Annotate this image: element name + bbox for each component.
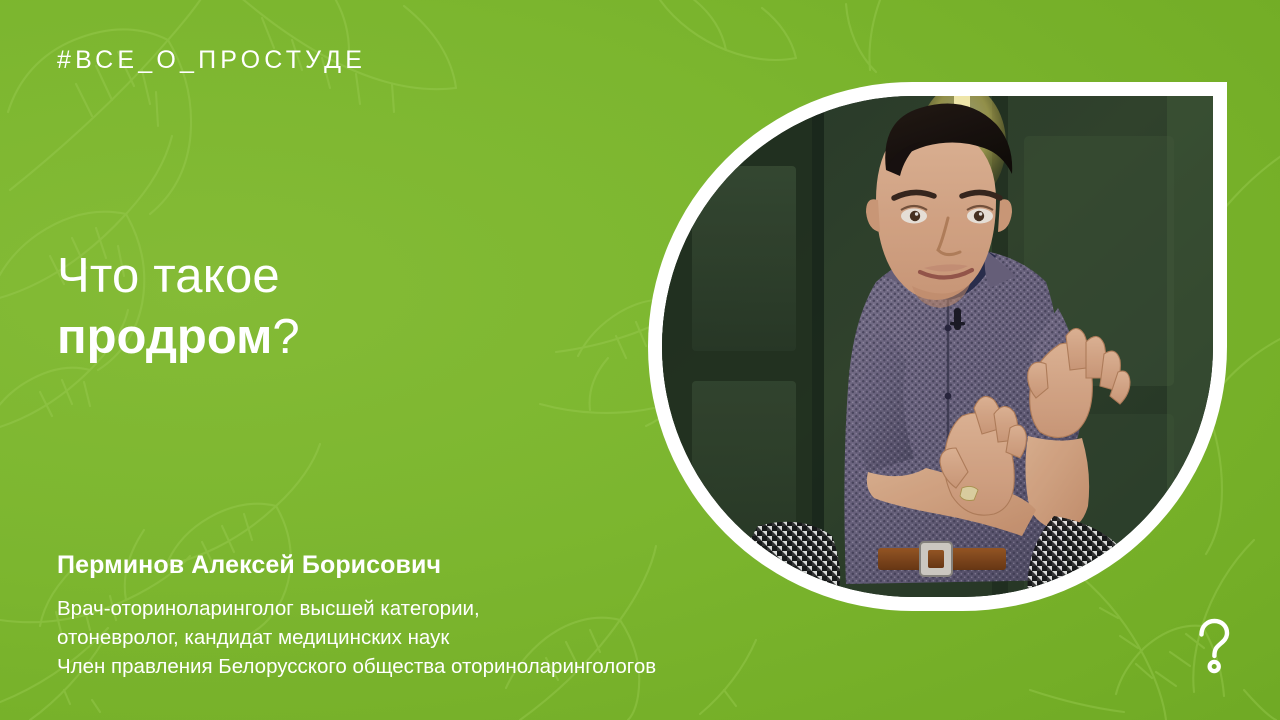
question-mark-icon: [1194, 618, 1234, 674]
title-question-mark: ?: [272, 310, 299, 364]
title-line-1: Что такое: [57, 246, 617, 307]
speaker-photo: [662, 96, 1213, 597]
title-keyword: продром: [57, 310, 272, 364]
speaker-photo-clip: [662, 96, 1213, 597]
speaker-photo-frame: [648, 82, 1227, 611]
speaker-credential-line-2: отоневролог, кандидат медицинских наук: [57, 623, 837, 652]
title-line-2: продром?: [57, 307, 617, 368]
title-card: #ВСЕ_О_ПРОСТУДЕ Что такое продром? Перми…: [0, 0, 1280, 720]
speaker-credential-line-3: Член правления Белорусского общества ото…: [57, 652, 837, 681]
hashtag-label: #ВСЕ_О_ПРОСТУДЕ: [57, 46, 366, 75]
speaker-credential-line-1: Врач-оториноларинголог высшей категории,: [57, 594, 837, 623]
page-title: Что такое продром?: [57, 246, 617, 368]
